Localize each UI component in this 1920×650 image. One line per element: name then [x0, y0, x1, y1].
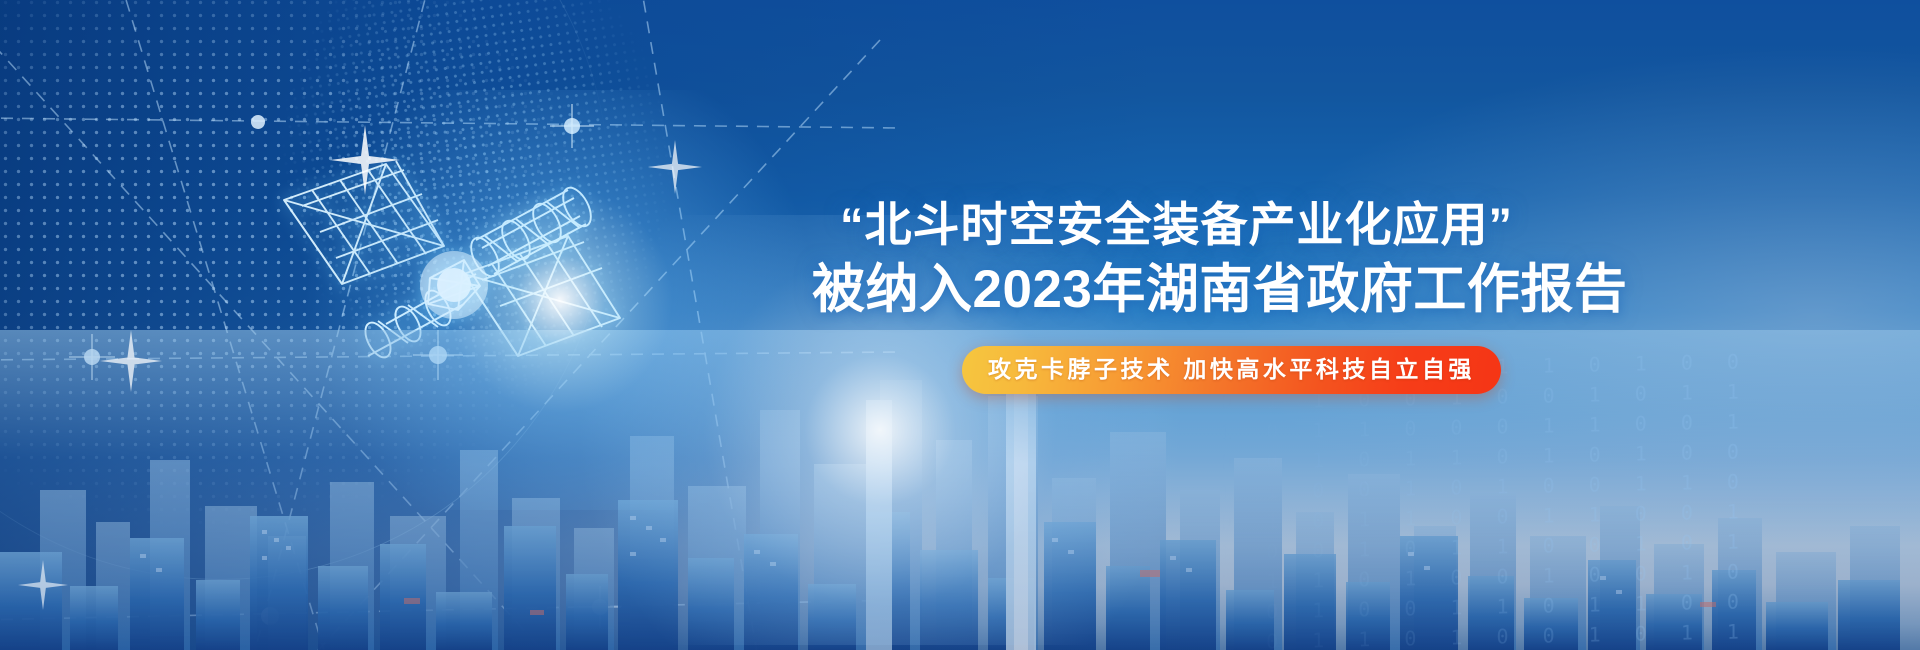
headline-block: “北斗时空安全装备产业化应用” 被纳入2023年湖南省政府工作报告 攻克卡脖子技…: [812, 196, 1692, 394]
headline-secondary: 被纳入2023年湖南省政府工作报告: [812, 258, 1692, 322]
slogan-text: 攻克卡脖子技术 加快高水平科技自立自强: [988, 356, 1475, 383]
promo-banner: 1 0 0 1 0 0 1 1 0 1 0 0 0 1 1 0 0 1 0 0 …: [0, 0, 1920, 650]
slogan-pill[interactable]: 攻克卡脖子技术 加快高水平科技自立自强: [962, 346, 1501, 394]
headline-primary: “北斗时空安全装备产业化应用”: [812, 196, 1692, 254]
